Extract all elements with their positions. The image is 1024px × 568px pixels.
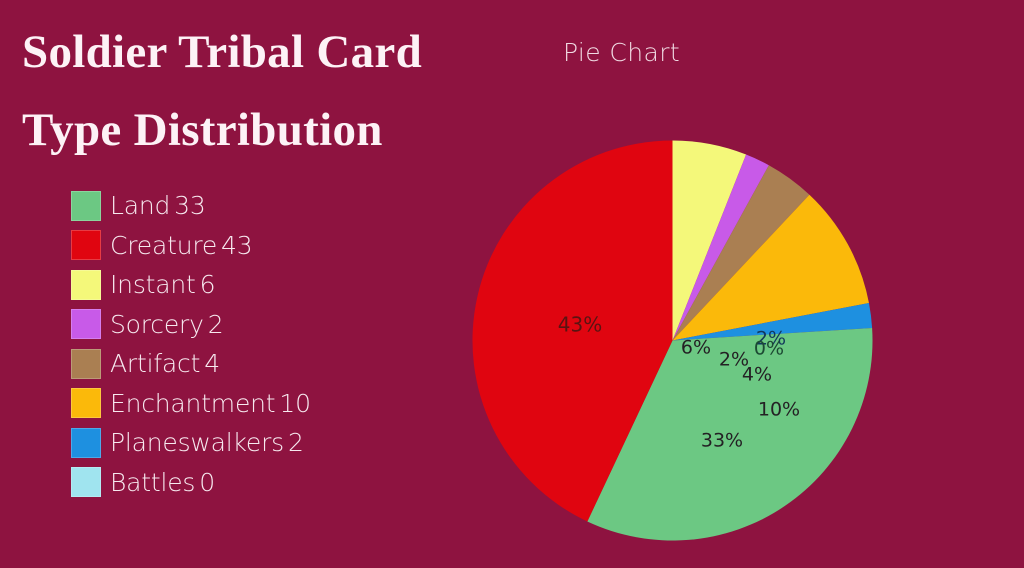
page-title-line-2: Type Distribution [22,92,522,170]
legend-label-battles: Battles0 [110,468,215,497]
legend-item-battles[interactable]: Battles0 [71,463,451,503]
pie-label-enchantment: 10% [758,399,800,421]
pie-label-artifact: 4% [742,364,772,386]
legend-label-enchantment: Enchantment10 [110,389,311,418]
page-title-line-1: Soldier Tribal Card [22,14,522,92]
legend-item-enchantment[interactable]: Enchantment10 [71,384,451,424]
legend-label-land: Land33 [110,191,206,220]
pie-chart: 6%2%4%10%2%0%33%43% [472,140,873,541]
legend-item-instant[interactable]: Instant6 [71,265,451,305]
legend-swatch-land [71,191,101,221]
legend-label-sorcery: Sorcery2 [110,310,223,339]
legend-swatch-sorcery [71,309,101,339]
legend-label-instant: Instant6 [110,270,215,299]
chart-canvas: Soldier Tribal Card Type Distribution Pi… [0,0,1024,568]
pie-label-battles: 0% [754,338,784,360]
legend-swatch-creature [71,230,101,260]
legend-swatch-battles [71,467,101,497]
chart-type-subtitle: Pie Chart [563,38,680,67]
legend-item-planeswalkers[interactable]: Planeswalkers2 [71,423,451,463]
legend-item-land[interactable]: Land33 [71,186,451,226]
legend-label-creature: Creature43 [110,231,252,260]
legend-item-artifact[interactable]: Artifact4 [71,344,451,384]
chart-legend: Land33 Creature43 Instant6 Sorcery2 Arti… [71,186,451,502]
pie-label-instant: 6% [681,337,711,359]
legend-item-creature[interactable]: Creature43 [71,226,451,266]
legend-label-planeswalkers: Planeswalkers2 [110,428,304,457]
pie-slices[interactable] [472,140,872,540]
legend-swatch-planeswalkers [71,428,101,458]
legend-swatch-enchantment [71,388,101,418]
pie-label-creature: 43% [558,313,602,337]
legend-label-artifact: Artifact4 [110,349,220,378]
page-title: Soldier Tribal Card Type Distribution [22,14,522,169]
pie-chart-svg: 6%2%4%10%2%0%33%43% [472,140,873,541]
pie-label-land: 33% [701,430,743,452]
legend-swatch-instant [71,270,101,300]
legend-swatch-artifact [71,349,101,379]
legend-item-sorcery[interactable]: Sorcery2 [71,305,451,345]
